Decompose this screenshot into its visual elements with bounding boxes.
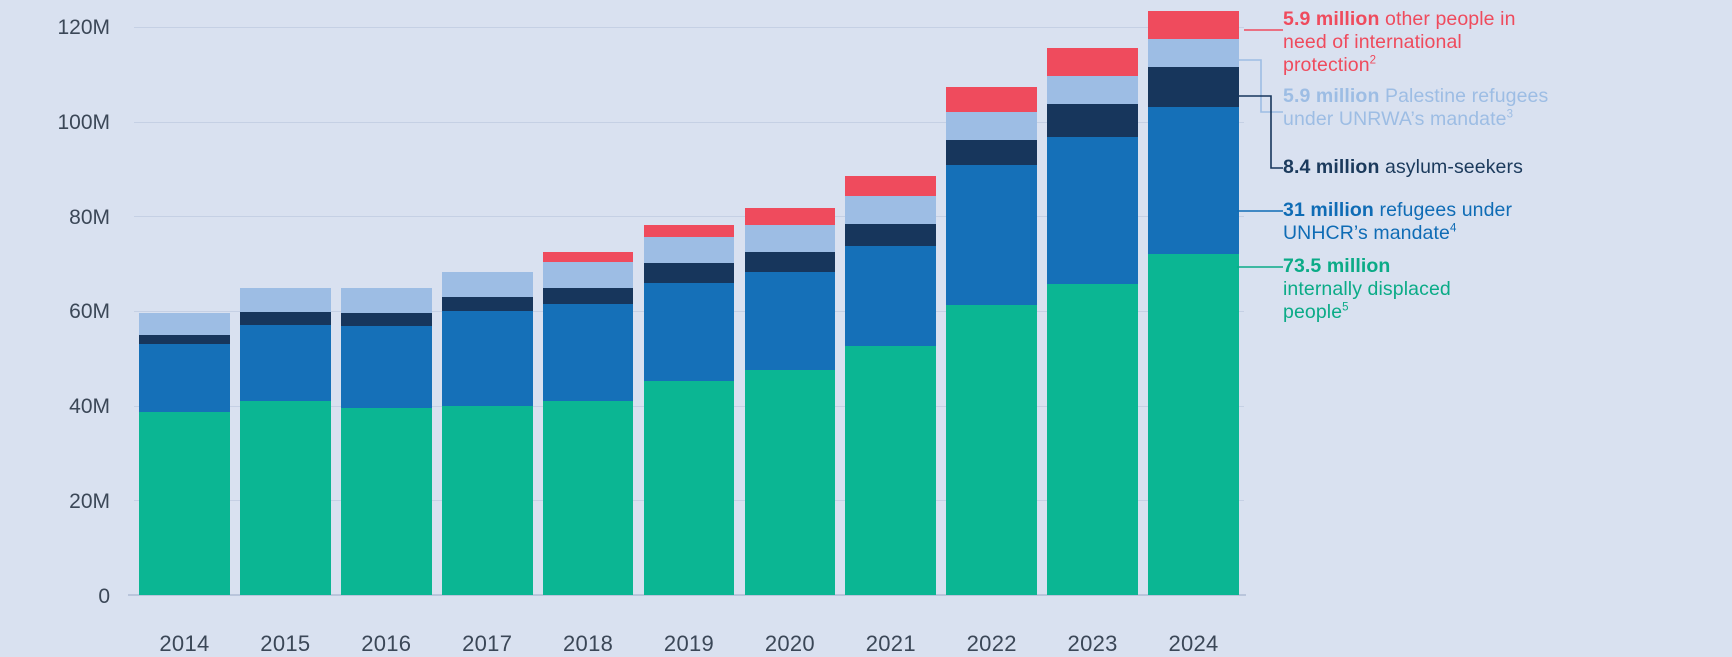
- bar-2022[interactable]: [946, 87, 1037, 595]
- bar-segment-other-2018: [543, 252, 634, 261]
- bar-segment-refugees-2019: [644, 283, 735, 381]
- bar-segment-unrwa-2015: [240, 288, 331, 313]
- bar-2016[interactable]: [341, 288, 432, 595]
- bar-segment-asylum-2023: [1047, 104, 1138, 137]
- chart-container: Number of people 120M 100M 80M 60M 40M 2…: [0, 0, 1732, 646]
- bar-segment-unrwa-2018: [543, 262, 634, 288]
- x-tick-label-2023: 2023: [1042, 631, 1143, 657]
- x-tick-label-2021: 2021: [840, 631, 941, 657]
- x-tick-label-2016: 2016: [336, 631, 437, 657]
- callout-asylum-text: asylum-seekers: [1385, 156, 1523, 178]
- x-tick-label-2022: 2022: [941, 631, 1042, 657]
- x-tick-label-2019: 2019: [639, 631, 740, 657]
- bar-segment-asylum-2018: [543, 288, 634, 305]
- callouts: 5.9 million other people in need of inte…: [1283, 0, 1732, 646]
- bar-segment-idp-2019: [644, 381, 735, 595]
- bar-2015[interactable]: [240, 288, 331, 595]
- bar-segment-refugees-2018: [543, 304, 634, 401]
- bar-segment-other-2019: [644, 225, 735, 236]
- y-tick-label-120M: 120M: [0, 16, 110, 40]
- x-tick-label-2015: 2015: [235, 631, 336, 657]
- bar-segment-unrwa-2021: [845, 196, 936, 223]
- y-tick-label-100M: 100M: [0, 111, 110, 135]
- x-tick-label-2018: 2018: [538, 631, 639, 657]
- plot-area: 2014201520162017201820192020202120222023…: [134, 27, 1244, 595]
- callout-idp-footnote: 5: [1342, 302, 1349, 314]
- bar-segment-unrwa-2017: [442, 272, 533, 297]
- bar-segment-unrwa-2020: [745, 225, 836, 252]
- bar-segment-asylum-2017: [442, 297, 533, 312]
- y-axis: Number of people 120M 100M 80M 60M 40M 2…: [0, 0, 134, 646]
- callout-other-value: 5.9 million: [1283, 8, 1379, 30]
- bar-segment-idp-2022: [946, 305, 1037, 595]
- x-tick-label-2020: 2020: [739, 631, 840, 657]
- bar-2019[interactable]: [644, 225, 735, 595]
- bar-segment-asylum-2019: [644, 263, 735, 283]
- bar-segment-unrwa-2014: [139, 313, 230, 335]
- bar-segment-other-2020: [745, 208, 836, 225]
- bar-2023[interactable]: [1047, 48, 1138, 595]
- bar-segment-unrwa-2023: [1047, 76, 1138, 104]
- bar-segment-refugees-2017: [442, 311, 533, 405]
- bar-segment-idp-2017: [442, 406, 533, 595]
- bar-series-container: [134, 27, 1244, 595]
- bar-segment-asylum-2016: [341, 313, 432, 326]
- bar-segment-asylum-2015: [240, 312, 331, 325]
- callout-other-footnote: 2: [1370, 55, 1377, 67]
- bar-2020[interactable]: [745, 208, 836, 595]
- bar-2021[interactable]: [845, 176, 936, 595]
- bar-segment-idp-2020: [745, 370, 836, 595]
- bar-segment-asylum-2022: [946, 140, 1037, 166]
- callout-asylum-seekers: 8.4 million asylum-seekers: [1283, 156, 1573, 179]
- bar-2014[interactable]: [139, 313, 230, 595]
- bar-segment-asylum-2020: [745, 252, 836, 272]
- bar-segment-asylum-2014: [139, 335, 230, 344]
- bar-segment-other-2021: [845, 176, 936, 197]
- bar-segment-unrwa-2019: [644, 237, 735, 264]
- bar-segment-unrwa-2022: [946, 112, 1037, 140]
- callout-unrwa-value: 5.9 million: [1283, 85, 1379, 107]
- bar-segment-refugees-2020: [745, 272, 836, 370]
- callout-other-people: 5.9 million other people in need of inte…: [1283, 8, 1543, 77]
- callout-refugees-value: 31 million: [1283, 199, 1374, 221]
- bar-2017[interactable]: [442, 272, 533, 595]
- bar-segment-refugees-2022: [946, 165, 1037, 305]
- callout-asylum-value: 8.4 million: [1283, 156, 1379, 178]
- bar-segment-refugees-2023: [1047, 137, 1138, 284]
- bar-segment-refugees-2014: [139, 344, 230, 412]
- callout-idp: 73.5 million internally displaced people…: [1283, 255, 1503, 324]
- bar-segment-idp-2016: [341, 408, 432, 595]
- x-tick-label-2014: 2014: [134, 631, 235, 657]
- x-tick-label-2017: 2017: [437, 631, 538, 657]
- bar-segment-refugees-2021: [845, 246, 936, 346]
- bar-segment-asylum-2021: [845, 224, 936, 246]
- y-tick-label-40M: 40M: [0, 395, 110, 419]
- bar-segment-idp-2018: [543, 401, 634, 595]
- callout-idp-value: 73.5 million: [1283, 255, 1390, 277]
- bar-2018[interactable]: [543, 252, 634, 595]
- y-tick-label-80M: 80M: [0, 206, 110, 230]
- callout-idp-text: internally displaced people: [1283, 278, 1451, 323]
- bar-segment-idp-2021: [845, 346, 936, 595]
- bar-segment-other-2023: [1047, 48, 1138, 76]
- bar-segment-refugees-2016: [341, 326, 432, 407]
- callout-unrwa: 5.9 million Palestine refugees under UNR…: [1283, 85, 1549, 131]
- callout-refugees: 31 million refugees under UNHCR’s mandat…: [1283, 199, 1563, 245]
- bar-segment-unrwa-2016: [341, 288, 432, 313]
- callout-refugees-footnote: 4: [1450, 223, 1457, 235]
- bar-segment-idp-2023: [1047, 284, 1138, 595]
- y-tick-label-60M: 60M: [0, 300, 110, 324]
- bar-segment-idp-2014: [139, 412, 230, 595]
- y-tick-label-20M: 20M: [0, 490, 110, 514]
- bar-segment-other-2022: [946, 87, 1037, 112]
- bar-segment-idp-2015: [240, 401, 331, 595]
- y-tick-label-0: 0: [0, 585, 110, 609]
- bar-segment-refugees-2015: [240, 325, 331, 401]
- callout-unrwa-footnote: 3: [1507, 109, 1514, 121]
